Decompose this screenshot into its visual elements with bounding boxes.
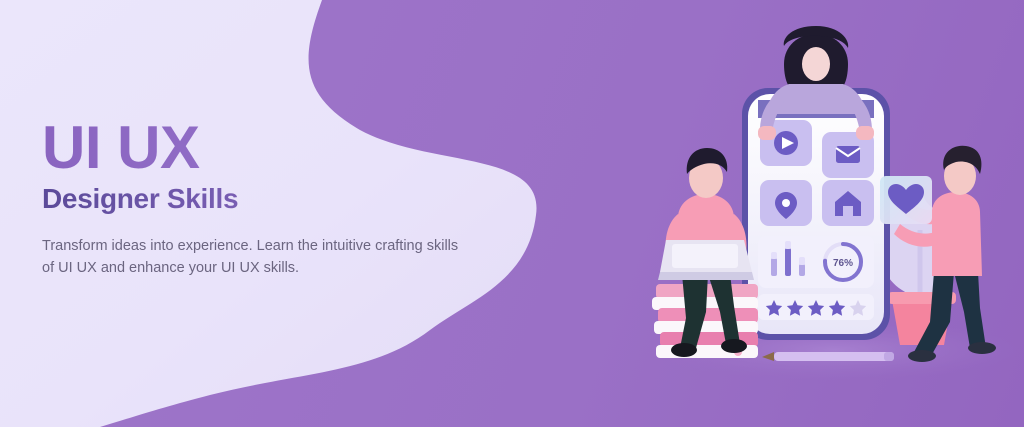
stat-card: 76% [758,236,874,288]
page-title: UI UX [42,118,512,178]
progress-label: 76% [833,258,853,269]
envelope-icon [836,146,860,163]
pencil [762,352,894,361]
page-subtitle: Designer Skills [42,184,512,215]
ui-ux-hero-banner: UI UX Designer Skills Transform ideas in… [0,0,1024,427]
page-description: Transform ideas into experience. Learn t… [42,235,467,280]
star-rating [758,294,874,320]
heart-card [880,176,932,224]
illustration-scene: 76% [634,0,1024,427]
banner-text-block: UI UX Designer Skills Transform ideas in… [42,118,512,280]
